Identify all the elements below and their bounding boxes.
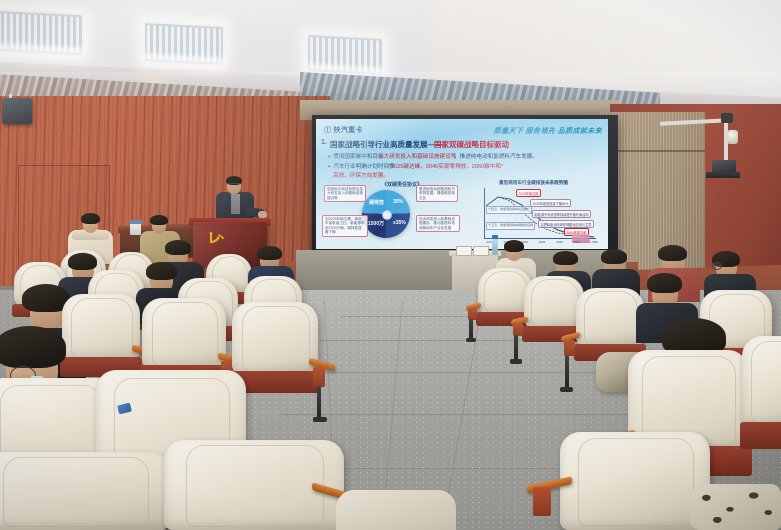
screen-glare <box>316 119 608 249</box>
seated-person-hair <box>504 240 524 252</box>
attendee-hair <box>658 245 687 261</box>
audience-chair[interactable] <box>0 452 170 530</box>
attendee-hair <box>68 253 97 270</box>
wall-fixture-icon <box>721 113 733 123</box>
seated-person-hair <box>81 213 100 224</box>
attendee-hair <box>257 246 282 260</box>
water-bottle-cap <box>492 235 498 239</box>
attendee-hair <box>0 326 66 368</box>
water-bottle <box>492 238 498 255</box>
ceiling-downlight-icon <box>508 33 524 44</box>
projection-screen-bezel: ① 陕汽重卡 质量天下 服务领先 品质成就未来 1. 国家战略引导行业高质量发展… <box>312 115 618 259</box>
audience-chair[interactable] <box>142 298 226 368</box>
speaker-shirt <box>231 194 240 214</box>
audience-chair[interactable] <box>62 294 140 360</box>
speaker-glasses <box>227 183 240 187</box>
lecture-hall-photo: ① 陕汽重卡 质量天下 服务领先 品质成就未来 1. 国家战略引导行业高质量发展… <box>0 0 781 530</box>
ceiling-light-panel-icon <box>143 21 225 67</box>
audience-chair[interactable] <box>164 440 344 530</box>
seated-person-hair <box>150 215 168 225</box>
attendee-hair <box>146 262 177 280</box>
attendee-hair <box>553 251 578 265</box>
projection-screen[interactable]: ① 陕汽重卡 质量天下 服务领先 品质成就未来 1. 国家战略引导行业高质量发展… <box>316 119 608 249</box>
audience-chair[interactable] <box>524 276 584 328</box>
ceiling-light-panel-icon <box>0 9 84 58</box>
audience-chair-near[interactable] <box>336 490 456 530</box>
cup-lid <box>129 220 142 224</box>
coat-on-chair <box>690 484 781 530</box>
ceiling-downlight-icon <box>525 35 541 46</box>
audience-chair[interactable] <box>560 432 710 530</box>
name-card <box>473 246 489 256</box>
attendee-glasses <box>712 262 722 270</box>
wall-speaker-icon <box>2 98 32 124</box>
audience-chair[interactable] <box>576 288 644 346</box>
wall-camera-base <box>706 172 740 178</box>
attendee-hair <box>601 249 627 264</box>
wall-lamp-icon <box>727 130 738 144</box>
attendee-hair <box>647 273 682 293</box>
audience-chair[interactable] <box>742 336 781 426</box>
audience-chair[interactable] <box>232 302 318 374</box>
ceiling-light-panel-icon <box>306 33 384 77</box>
attendee-hair <box>165 240 191 255</box>
speaker-hand <box>258 211 267 218</box>
name-card <box>456 246 472 256</box>
